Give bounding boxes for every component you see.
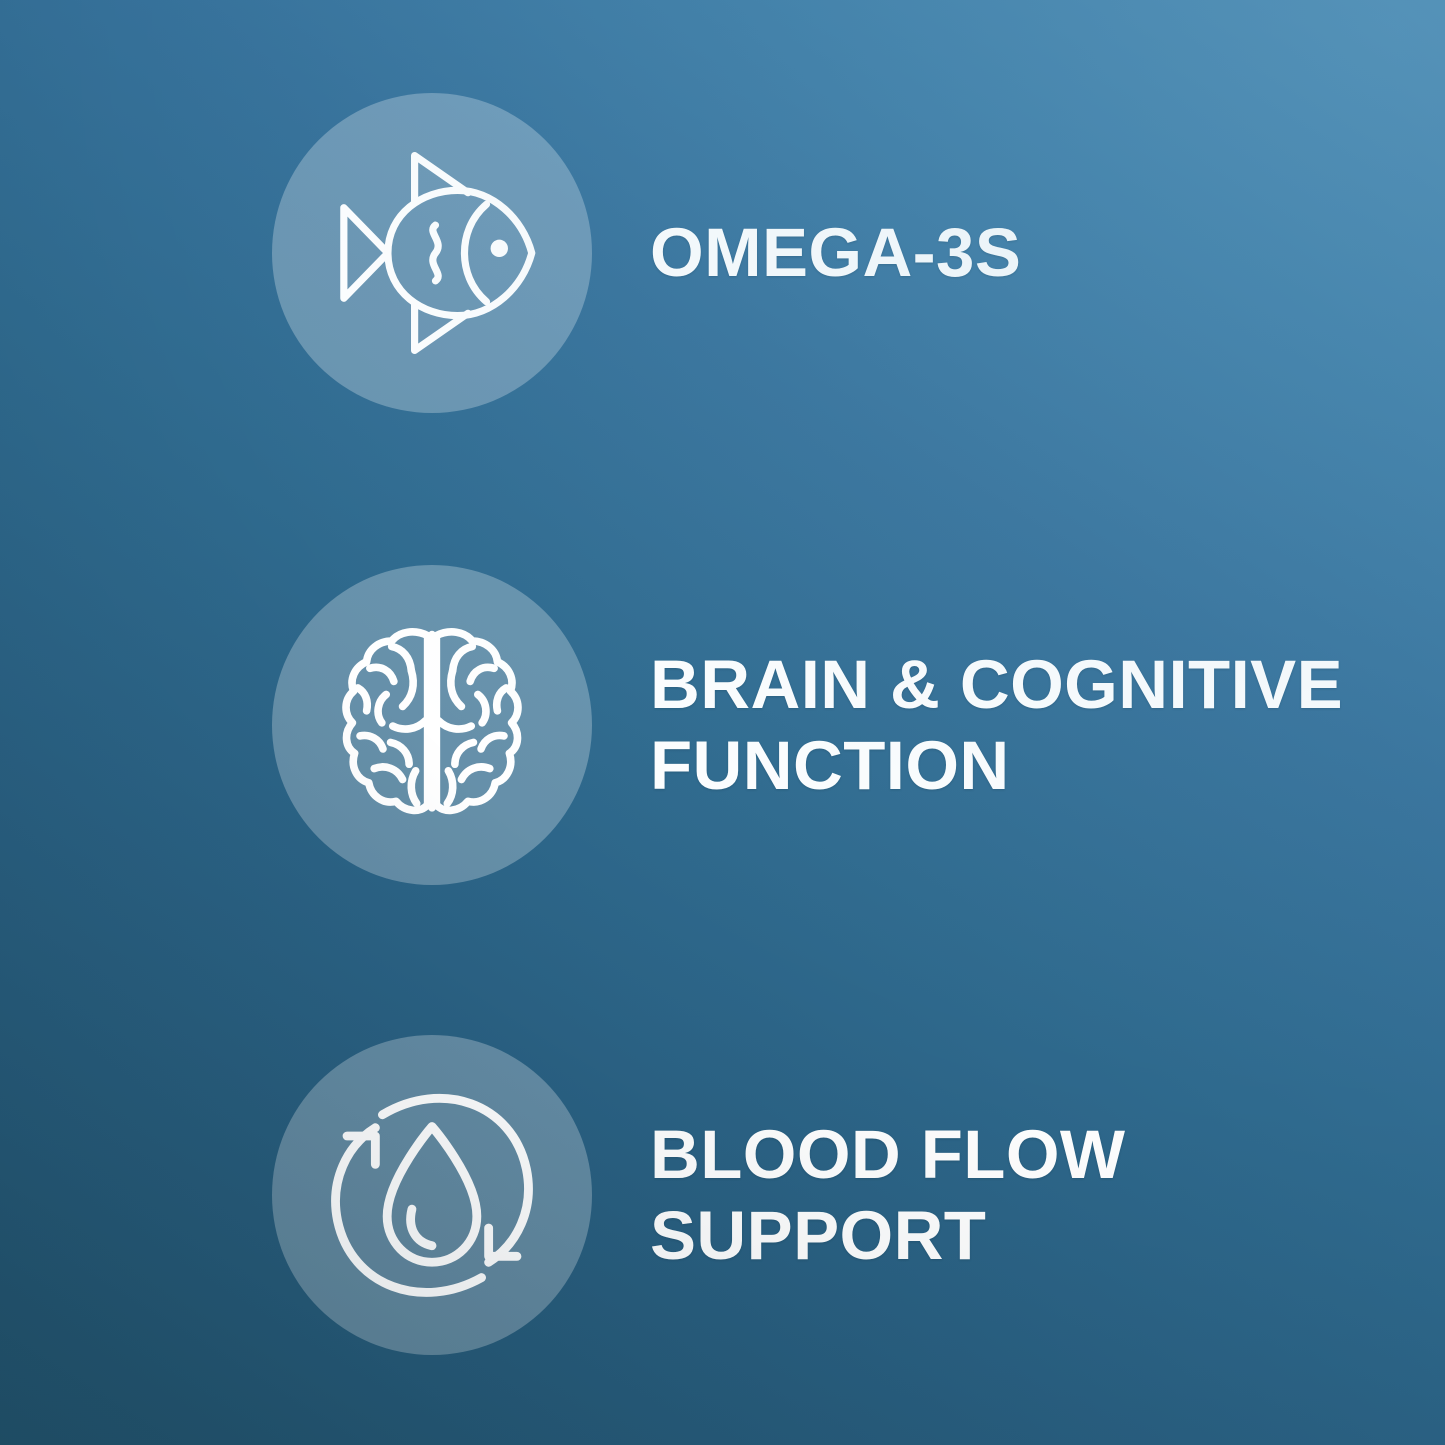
benefit-row-brain-cognitive-function: BRAIN & COGNITIVE FUNCTION (0, 565, 1445, 885)
brain-icon (323, 616, 541, 834)
benefit-label-line: BLOOD FLOW (650, 1114, 1370, 1195)
benefit-row-omega3s: OMEGA-3S (0, 93, 1445, 413)
water-drop-recycle-icon (314, 1077, 550, 1313)
benefit-label-line: BRAIN & COGNITIVE (650, 644, 1370, 725)
icon-badge-brain (272, 565, 592, 885)
benefit-label-blood-flow-support: BLOOD FLOW SUPPORT (650, 1035, 1370, 1355)
benefit-label-line: FUNCTION (650, 725, 1370, 806)
benefit-label-line: SUPPORT (650, 1195, 1370, 1276)
benefits-infographic: OMEGA-3S (0, 0, 1445, 1445)
benefit-label-brain-cognitive-function: BRAIN & COGNITIVE FUNCTION (650, 565, 1370, 885)
benefit-label-line: OMEGA-3S (650, 212, 1370, 293)
benefit-row-blood-flow-support: BLOOD FLOW SUPPORT (0, 1035, 1445, 1355)
benefit-label-omega3s: OMEGA-3S (650, 93, 1370, 413)
fish-icon (316, 137, 548, 369)
icon-badge-omega3s (272, 93, 592, 413)
icon-badge-blood-flow (272, 1035, 592, 1355)
